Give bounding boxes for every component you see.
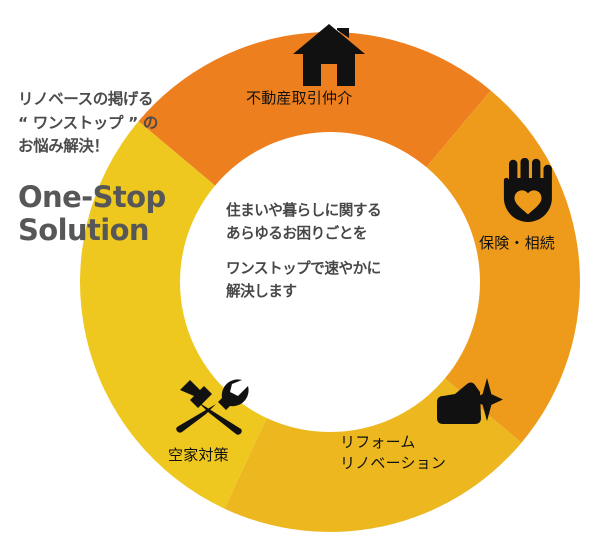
headline-block: リノベースの掲げる “ ワンストップ ” の お悩み解決！ One-Stop S… [18, 88, 228, 247]
center-paragraph-2: ワンストップで速やかに 解決します [226, 258, 441, 303]
lead-text: リノベースの掲げる “ ワンストップ ” の お悩み解決！ [18, 88, 228, 159]
center-paragraph-1: 住まいや暮らしに関する あらゆるお困りごとを [226, 200, 441, 245]
sparkle-house-icon [435, 378, 503, 434]
segment-label-reform: リフォーム リノベーション [340, 432, 446, 475]
hand-heart-icon [499, 158, 557, 228]
segment-label-real-estate: 不動産取引仲介 [246, 88, 352, 109]
hammer-wrench-icon [174, 374, 250, 436]
segment-label-akiya: 空家対策 [168, 445, 229, 466]
center-description: 住まいや暮らしに関する あらゆるお困りごとを ワンストップで速やかに 解決します [226, 200, 441, 303]
infographic-canvas: リノベースの掲げる “ ワンストップ ” の お悩み解決！ One-Stop S… [0, 0, 600, 533]
house-icon [293, 24, 365, 86]
page-title: One-Stop Solution [18, 181, 228, 247]
segment-label-insurance: 保険・相続 [479, 233, 555, 254]
